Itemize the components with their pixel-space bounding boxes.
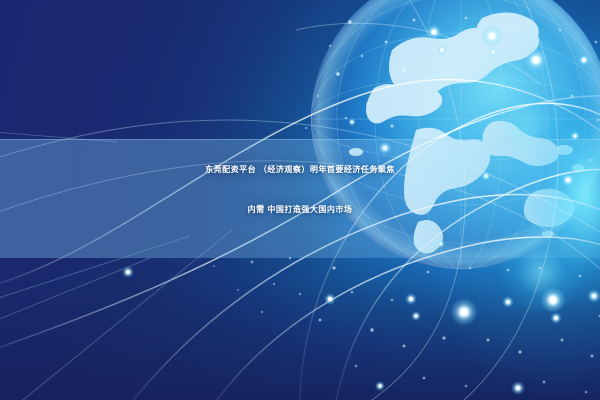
news-banner-image: 东莞配资平台 （经济观察）明年首要经济任务聚焦 内需 中国打造强大国内市场	[0, 0, 600, 400]
network-arcs	[0, 80, 600, 400]
headline-line-1: 东莞配资平台 （经济观察）明年首要经济任务聚焦	[0, 150, 600, 190]
headline: 东莞配资平台 （经济观察）明年首要经济任务聚焦 内需 中国打造强大国内市场	[0, 150, 600, 230]
headline-line-2: 内需 中国打造强大国内市场	[0, 190, 600, 230]
